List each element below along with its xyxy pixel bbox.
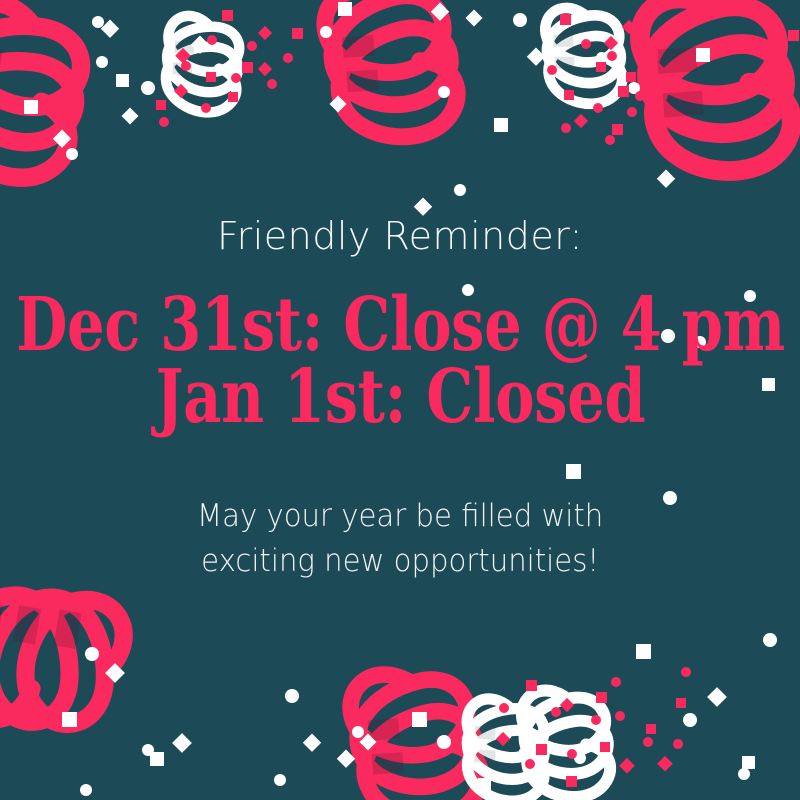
subtext-line-1: May your year be filled with: [197, 494, 603, 539]
headline: Dec 31st: Close @ 4 pm Jan 1st: Closed: [16, 289, 785, 434]
eyebrow-text: Friendly Reminder:: [217, 215, 583, 259]
headline-line-1: Dec 31st: Close @ 4 pm: [16, 289, 785, 362]
poster-text-block: Friendly Reminder: Dec 31st: Close @ 4 p…: [0, 0, 800, 800]
new-year-announcement-poster: Friendly Reminder: Dec 31st: Close @ 4 p…: [0, 0, 800, 800]
headline-line-2: Jan 1st: Closed: [16, 361, 785, 434]
subtext: May your year be filled with exciting ne…: [197, 494, 603, 584]
subtext-line-2: exciting new opportunities!: [197, 539, 603, 584]
